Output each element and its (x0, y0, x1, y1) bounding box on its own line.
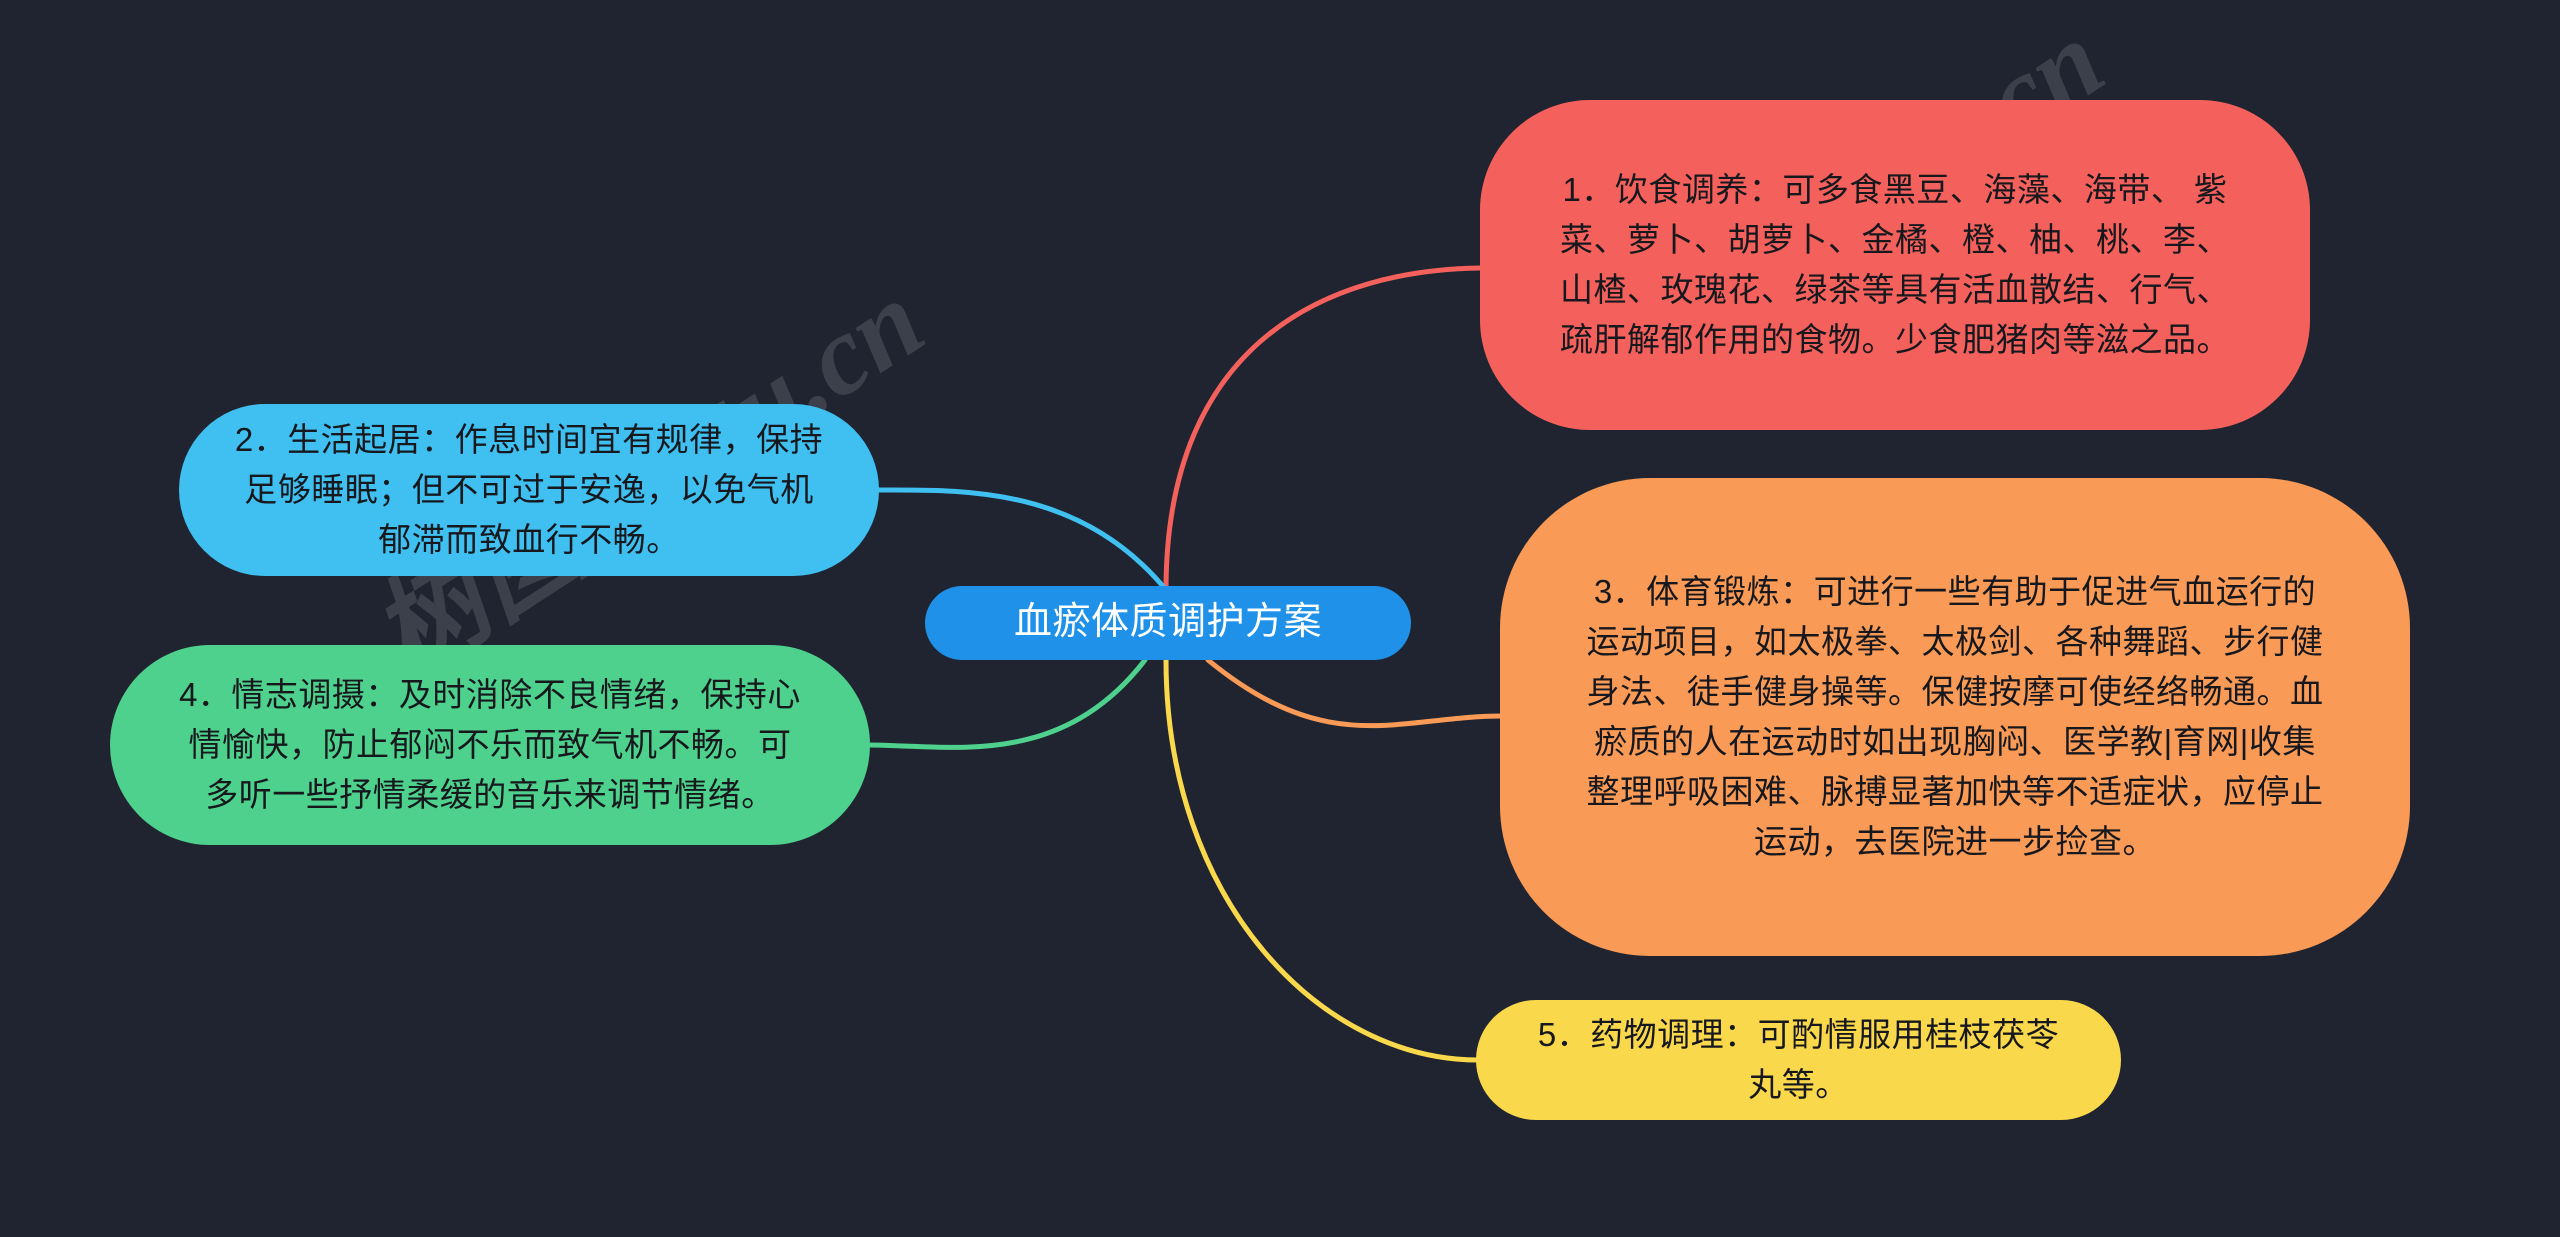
branch-node-diet[interactable]: 1．饮食调养：可多食黑豆、海藻、海带、 紫菜、萝卜、胡萝卜、金橘、橙、柚、桃、李… (1480, 100, 2310, 430)
branch-node-diet-label: 1．饮食调养：可多食黑豆、海藻、海带、 紫菜、萝卜、胡萝卜、金橘、橙、柚、桃、李… (1544, 165, 2246, 366)
branch-node-daily-living-label: 2．生活起居：作息时间宜有规律，保持足够睡眠；但不可过于安逸，以免气机郁滞而致血… (231, 415, 827, 565)
connector-to-branch-1 (1166, 268, 1480, 590)
branch-node-exercise[interactable]: 3．体育锻炼：可进行一些有助于促进气血运行的运动项目，如太极拳、太极剑、各种舞蹈… (1500, 478, 2410, 956)
branch-node-medication-label: 5．药物调理：可酌情服用桂枝茯苓丸等。 (1528, 1010, 2069, 1110)
connector-to-branch-4 (868, 660, 1145, 747)
root-node-label: 血瘀体质调护方案 (925, 594, 1411, 652)
branch-node-daily-living[interactable]: 2．生活起居：作息时间宜有规律，保持足够睡眠；但不可过于安逸，以免气机郁滞而致血… (179, 404, 879, 576)
connector-to-branch-3 (1208, 660, 1502, 726)
mindmap-canvas: 树图shutu.cn 树图shutu.cn 血瘀体质调护方案 1．饮食调养：可多… (0, 0, 2560, 1237)
branch-node-medication[interactable]: 5．药物调理：可酌情服用桂枝茯苓丸等。 (1476, 1000, 2121, 1120)
root-node[interactable]: 血瘀体质调护方案 (925, 586, 1411, 660)
branch-node-emotion[interactable]: 4．情志调摄：及时消除不良情绪，保持心情愉快，防止郁闷不乐而致气机不畅。可多听一… (110, 645, 870, 845)
connector-to-branch-2 (878, 490, 1166, 590)
branch-node-exercise-label: 3．体育锻炼：可进行一些有助于促进气血运行的运动项目，如太极拳、太极剑、各种舞蹈… (1578, 567, 2332, 868)
branch-node-emotion-label: 4．情志调摄：及时消除不良情绪，保持心情愉快，防止郁闷不乐而致气机不畅。可多听一… (172, 670, 808, 820)
